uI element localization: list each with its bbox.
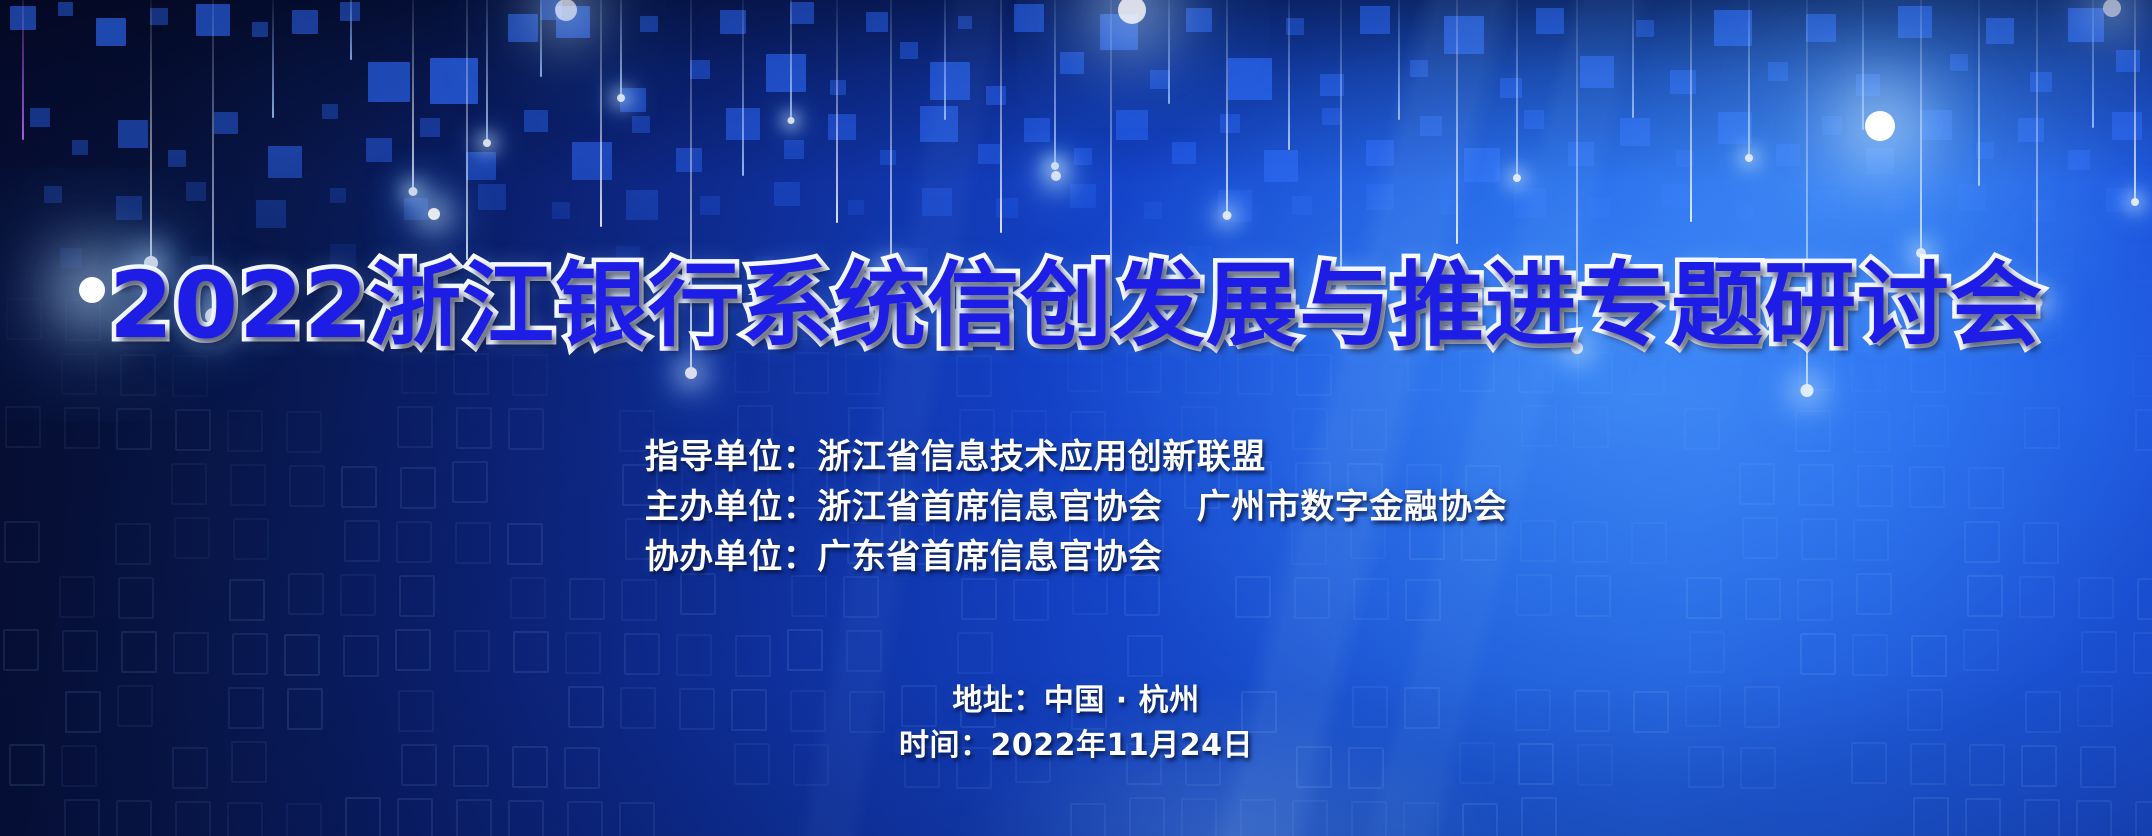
organizer-block: 指导单位：浙江省信息技术应用创新联盟 主办单位：浙江省首席信息官协会 广州市数字…	[645, 432, 1508, 582]
event-info-block: 地址：中国 · 杭州 时间：2022年11月24日	[0, 678, 2152, 768]
organizer-line-guidance: 指导单位：浙江省信息技术应用创新联盟	[645, 432, 1508, 482]
event-date: 时间：2022年11月24日	[0, 723, 2152, 768]
event-address: 地址：中国 · 杭州	[0, 678, 2152, 723]
organizer-line-co-host: 协办单位：广东省首席信息官协会	[645, 532, 1508, 582]
event-banner: 2022浙江银行系统信创发展与推进专题研讨会 指导单位：浙江省信息技术应用创新联…	[0, 0, 2152, 836]
banner-content: 2022浙江银行系统信创发展与推进专题研讨会 指导单位：浙江省信息技术应用创新联…	[0, 0, 2152, 836]
organizer-line-host: 主办单位：浙江省首席信息官协会 广州市数字金融协会	[645, 482, 1508, 532]
page-title: 2022浙江银行系统信创发展与推进专题研讨会	[0, 258, 2152, 355]
